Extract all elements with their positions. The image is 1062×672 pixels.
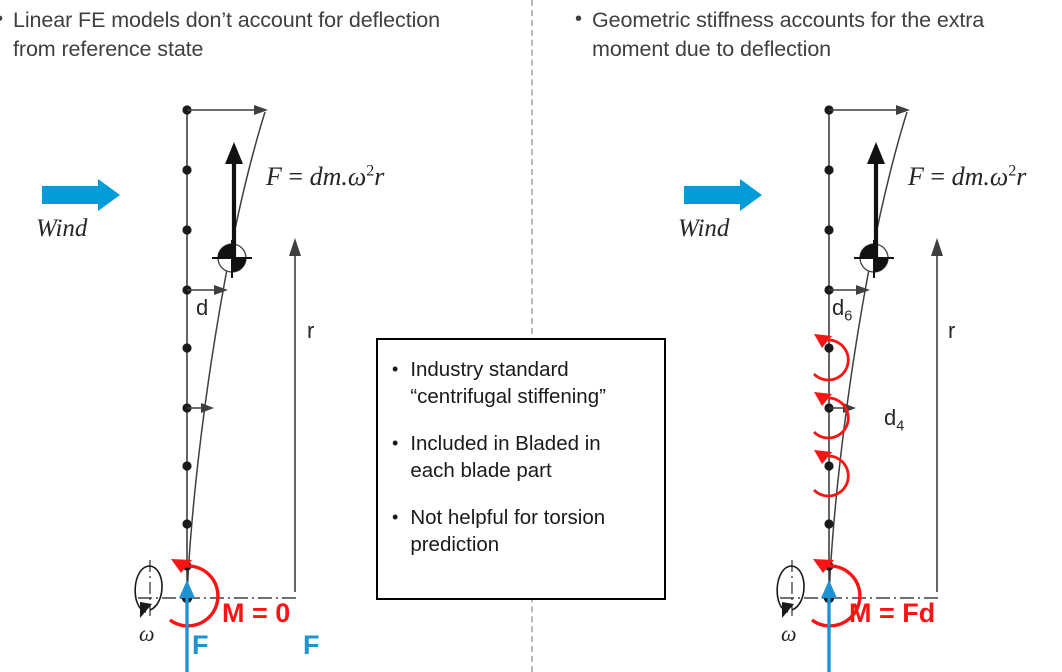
- deflection-arrow-lower: [187, 403, 214, 413]
- left-formula-equals: =: [288, 162, 303, 191]
- element-moment-arrow-upper: [814, 334, 848, 380]
- rotation-omega-icon: [777, 560, 804, 618]
- callout-marker: •: [392, 504, 398, 530]
- left-radius-label: r: [307, 318, 314, 344]
- right-formula: F = dm.ω2r: [908, 162, 1026, 192]
- left-formula-lhs: F: [266, 162, 282, 191]
- left-omega-label: ω: [139, 621, 155, 647]
- right-wind-label: Wind: [678, 215, 729, 243]
- d4-sub: 4: [896, 418, 904, 434]
- deflected-blade-curve: [187, 112, 265, 598]
- wind-arrow-icon: [684, 179, 762, 211]
- radius-arrow: [289, 238, 301, 592]
- d4-base: d: [884, 405, 896, 430]
- callout-text: Not helpful for torsion prediction: [410, 504, 650, 558]
- left-formula: F = dm.ω2r: [266, 162, 384, 192]
- rotation-omega-icon: [135, 560, 162, 618]
- right-formula-equals: =: [930, 162, 945, 191]
- right-deflection-label-d6: d6: [832, 295, 852, 324]
- right-force-label: F: [303, 630, 320, 661]
- tip-deflection-arrow: [187, 105, 268, 115]
- d6-sub: 6: [844, 308, 852, 324]
- callout-item: • Included in Bladed in each blade part: [392, 430, 650, 484]
- wind-arrow-icon: [42, 179, 120, 211]
- element-moment-arrow-lower: [814, 450, 848, 496]
- center-callout-box: • Industry standard “centrifugal stiffen…: [376, 338, 666, 600]
- callout-marker: •: [392, 356, 398, 382]
- left-formula-rhs-r: r: [374, 162, 384, 191]
- right-moment-label: M = Fd: [849, 598, 935, 629]
- left-formula-rhs-a: dm.: [310, 162, 348, 191]
- right-formula-omega: ω: [990, 162, 1008, 191]
- callout-item: • Not helpful for torsion prediction: [392, 504, 650, 558]
- moment-arrow-red: [170, 559, 218, 626]
- left-deflection-label: d: [196, 295, 208, 321]
- callout-item: • Industry standard “centrifugal stiffen…: [392, 356, 650, 410]
- left-formula-omega: ω: [348, 162, 366, 191]
- callout-marker: •: [392, 430, 398, 456]
- right-formula-rhs-r: r: [1016, 162, 1026, 191]
- right-omega-label: ω: [781, 621, 797, 647]
- callout-text: Industry standard “centrifugal stiffenin…: [410, 356, 650, 410]
- tip-deflection-arrow: [829, 105, 910, 115]
- left-force-label: F: [192, 630, 209, 661]
- right-deflection-label-d4: d4: [884, 405, 904, 434]
- d6-base: d: [832, 295, 844, 320]
- left-wind-label: Wind: [36, 215, 87, 243]
- right-radius-label: r: [948, 318, 955, 344]
- element-moment-arrow-middle: [814, 392, 848, 438]
- callout-text: Included in Bladed in each blade part: [410, 430, 650, 484]
- left-moment-label: M = 0: [222, 598, 290, 629]
- radius-arrow: [931, 238, 943, 592]
- right-formula-lhs: F: [908, 162, 924, 191]
- deflected-blade-curve: [829, 112, 907, 598]
- right-formula-rhs-a: dm.: [952, 162, 990, 191]
